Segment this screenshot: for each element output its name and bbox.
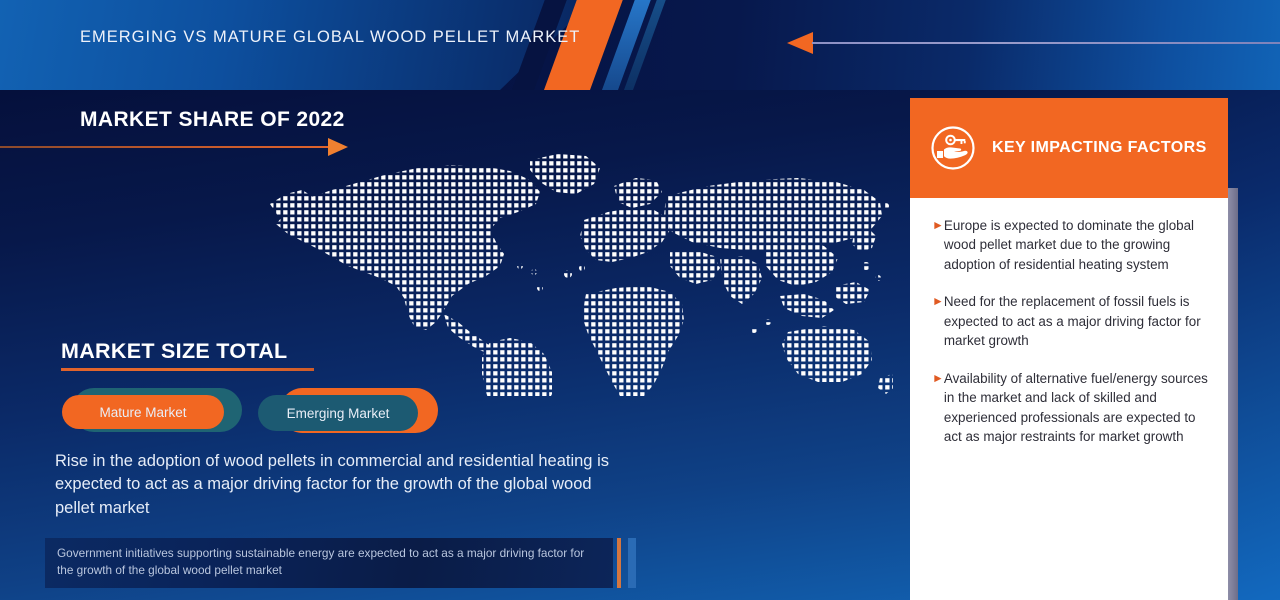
key-impacting-factors-title: KEY IMPACTING FACTORS [992,139,1207,157]
triangle-right-icon: ► [918,295,944,307]
list-item: ► Europe is expected to dominate the glo… [918,216,1214,274]
list-item-text: Availability of alternative fuel/energy … [944,369,1214,447]
bottom-note-text: Government initiatives supporting sustai… [57,545,602,579]
list-item-text: Need for the replacement of fossil fuels… [944,292,1214,350]
body-paragraph: Rise in the adoption of wood pellets in … [55,450,630,520]
bottom-accent-bar-orange [617,538,621,588]
dotted-world-map [268,146,893,396]
list-item: ► Need for the replacement of fossil fue… [918,292,1214,350]
market-size-heading: MARKET SIZE TOTAL [61,339,287,364]
market-share-heading: MARKET SHARE OF 2022 [80,108,345,132]
header-arrow-line [812,42,1280,44]
bottom-note-panel: Government initiatives supporting sustai… [45,538,613,588]
list-item: ► Availability of alternative fuel/energ… [918,369,1214,447]
legend-pill-mature-label: Mature Market [62,395,224,429]
page-title: EMERGING VS MATURE GLOBAL WOOD PELLET MA… [80,26,600,49]
triangle-right-icon: ► [918,372,944,384]
key-impacting-factors-list: ► Europe is expected to dominate the glo… [910,216,1228,464]
bottom-accent-bar-blue [628,538,636,588]
legend-pill-emerging-label: Emerging Market [258,395,418,431]
hand-holding-key-icon [930,125,976,171]
key-impacting-factors-panel: KEY IMPACTING FACTORS ► Europe is expect… [910,98,1228,600]
arrow-left-icon [787,32,813,54]
market-size-rule [61,368,314,371]
triangle-right-icon: ► [918,219,944,231]
right-panel-shadow [1228,188,1238,600]
list-item-text: Europe is expected to dominate the globa… [944,216,1214,274]
legend-pill-mature-market[interactable]: Mature Market [62,388,242,436]
key-impacting-factors-header: KEY IMPACTING FACTORS [910,98,1228,198]
legend-pill-emerging-market[interactable]: Emerging Market [258,388,438,436]
